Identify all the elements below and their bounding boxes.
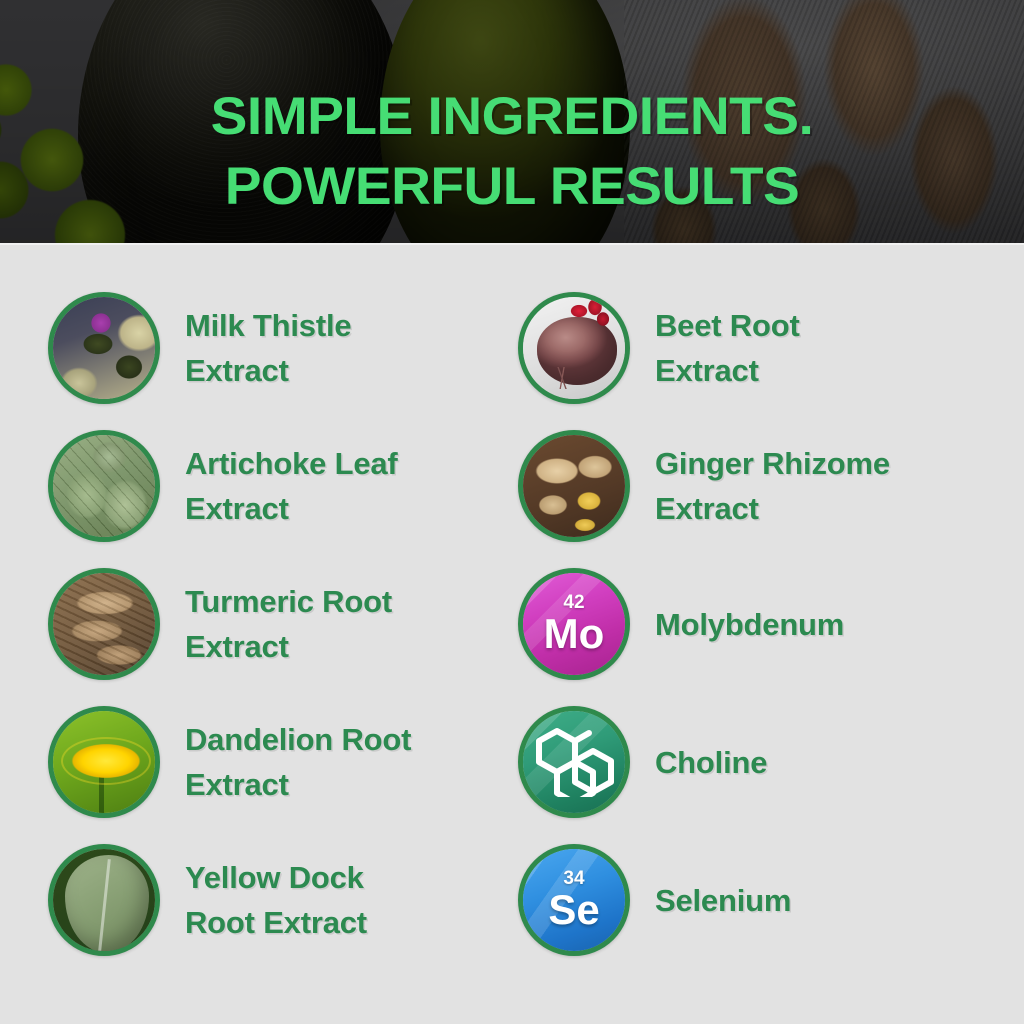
turmeric-photo-icon [53, 573, 155, 675]
list-item-molybdenum[interactable]: 42 Mo Molybdenum [518, 568, 988, 680]
choline-badge [518, 706, 630, 818]
yellow-dock-badge [48, 844, 160, 956]
list-item-label: Artichoke Leaf Extract [185, 441, 398, 531]
list-item-artichoke-leaf[interactable]: Artichoke Leaf Extract [48, 430, 518, 542]
hero-title-line-2: POWERFUL RESULTS [0, 152, 1024, 222]
list-item-turmeric-root[interactable]: Turmeric Root Extract [48, 568, 518, 680]
list-item-milk-thistle[interactable]: Milk Thistle Extract [48, 292, 518, 404]
beet-taproot [543, 367, 583, 389]
list-item-label: Choline [655, 740, 767, 785]
list-item-label: Molybdenum [655, 602, 844, 647]
list-item-ginger-rhizome[interactable]: Ginger Rhizome Extract [518, 430, 988, 542]
list-item-yellow-dock[interactable]: Yellow Dock Root Extract [48, 844, 518, 956]
ginger-photo-icon [523, 435, 625, 537]
yellow-dock-photo-icon [53, 849, 155, 951]
hero-banner: SIMPLE INGREDIENTS. POWERFUL RESULTS [0, 0, 1024, 245]
beet-root-badge [518, 292, 630, 404]
list-item-dandelion-root[interactable]: Dandelion Root Extract [48, 706, 518, 818]
ingredients-list: Milk Thistle Extract Artichoke Leaf Extr… [0, 245, 1024, 1024]
hexagon-molecule-svg [531, 727, 617, 797]
leaf-vein [98, 859, 111, 951]
molecule-hexagon-icon [523, 711, 625, 813]
milk-thistle-photo-icon [53, 297, 155, 399]
hero-title-line-1: SIMPLE INGREDIENTS. [0, 82, 1024, 152]
dandelion-stem [99, 771, 104, 818]
list-item-label: Selenium [655, 878, 791, 923]
list-item-label: Turmeric Root Extract [185, 579, 392, 669]
list-item-selenium[interactable]: 34 Se Selenium [518, 844, 988, 956]
element-symbol: Mo [544, 613, 605, 655]
selenium-badge: 34 Se [518, 844, 630, 956]
hero-title: SIMPLE INGREDIENTS. POWERFUL RESULTS [0, 82, 1024, 222]
element-tile-se-icon: 34 Se [523, 849, 625, 951]
dandelion-root-badge [48, 706, 160, 818]
beet-greens [567, 299, 611, 329]
list-item-choline[interactable]: Choline [518, 706, 988, 818]
list-item-label: Yellow Dock Root Extract [185, 855, 367, 945]
ginger-rhizome-badge [518, 430, 630, 542]
artichoke-leaf-badge [48, 430, 160, 542]
list-item-label: Dandelion Root Extract [185, 717, 411, 807]
dandelion-photo-icon [53, 711, 155, 813]
list-item-label: Ginger Rhizome Extract [655, 441, 890, 531]
beet-root-photo-icon [523, 297, 625, 399]
turmeric-root-badge [48, 568, 160, 680]
molybdenum-badge: 42 Mo [518, 568, 630, 680]
list-item-label: Beet Root Extract [655, 303, 800, 393]
list-item-label: Milk Thistle Extract [185, 303, 351, 393]
list-item-beet-root[interactable]: Beet Root Extract [518, 292, 988, 404]
element-tile-mo-icon: 42 Mo [523, 573, 625, 675]
artichoke-photo-icon [53, 435, 155, 537]
element-symbol: Se [548, 889, 599, 931]
ingredients-infographic: SIMPLE INGREDIENTS. POWERFUL RESULTS Mil… [0, 0, 1024, 1024]
milk-thistle-badge [48, 292, 160, 404]
